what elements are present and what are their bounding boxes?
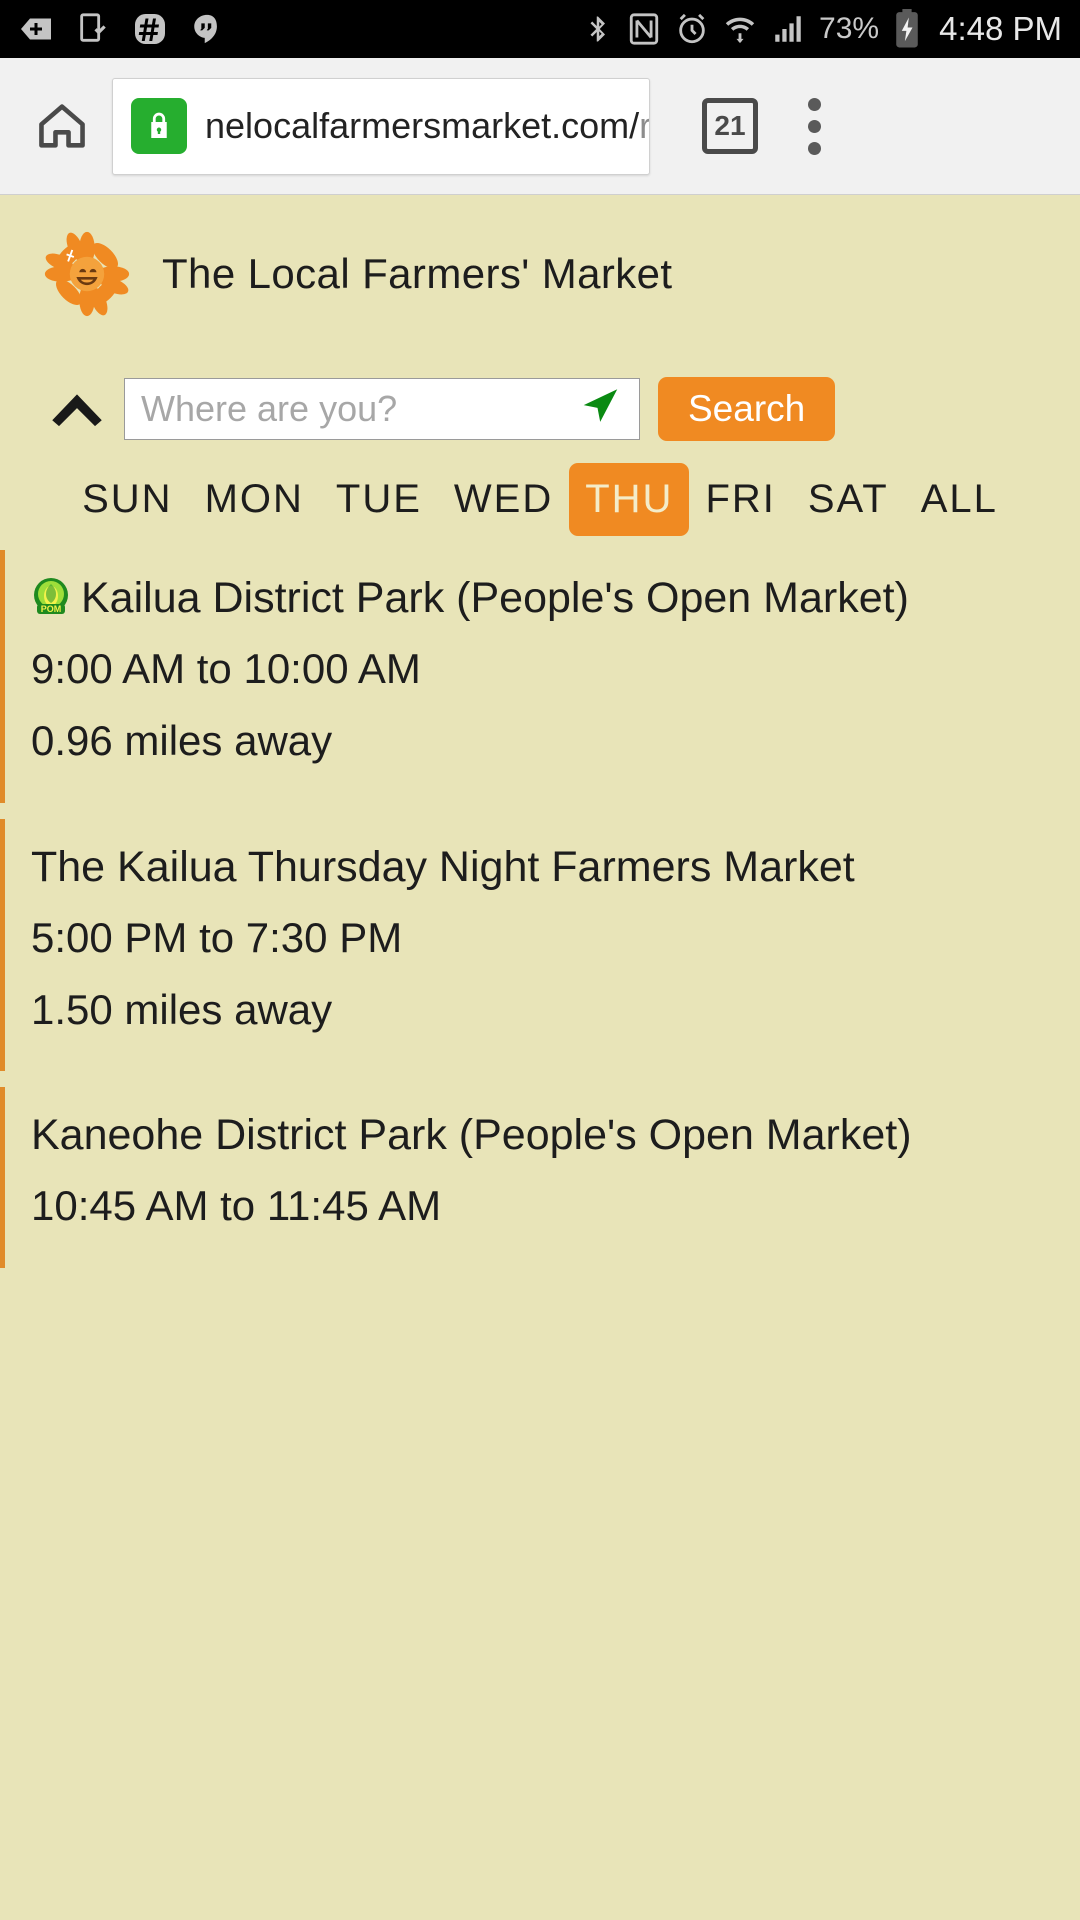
status-bar-clock: 4:48 PM (939, 10, 1062, 48)
day-filter-tabs: SUN MON TUE WED THU FRI SAT ALL (0, 463, 1080, 536)
day-tab-fri[interactable]: FRI (689, 463, 791, 536)
listing-hours: 9:00 AM to 10:00 AM (31, 637, 1050, 701)
day-tab-all[interactable]: ALL (905, 463, 1014, 536)
hangouts-icon (190, 11, 224, 47)
svg-text:POM: POM (41, 604, 62, 614)
day-tab-wed[interactable]: WED (438, 463, 569, 536)
page-body: The Local Farmers' Market Search SUN MON… (0, 195, 1080, 1920)
day-tab-sun[interactable]: SUN (66, 463, 188, 536)
search-row: Search (0, 377, 1080, 441)
day-tab-tue[interactable]: TUE (320, 463, 438, 536)
cell-signal-icon (771, 11, 805, 47)
battery-charging-icon (893, 9, 921, 49)
bluetooth-icon (583, 11, 613, 47)
alarm-clock-icon (675, 11, 709, 47)
listing-title-text: Kaneohe District Park (People's Open Mar… (31, 1111, 912, 1159)
url-text: nelocalfarmersmarket.com/r (205, 105, 650, 147)
location-search-field[interactable] (124, 378, 640, 440)
battery-percentage: 73% (819, 12, 879, 46)
plus-shield-icon (18, 11, 54, 47)
android-status-bar: 73% 4:48 PM (0, 0, 1080, 58)
day-tab-mon[interactable]: MON (189, 463, 320, 536)
tab-switcher-button[interactable]: 21 (702, 98, 758, 154)
download-to-phone-icon (76, 11, 110, 47)
site-header: The Local Farmers' Market (0, 195, 1080, 317)
list-item[interactable]: The Kailua Thursday Night Farmers Market… (0, 819, 1080, 1072)
listing-title: Kaneohe District Park (People's Open Mar… (31, 1105, 1050, 1166)
day-tab-thu[interactable]: THU (569, 463, 689, 536)
listing-distance: 1.50 miles away (31, 978, 1050, 1042)
collapse-toggle[interactable] (38, 391, 116, 427)
browser-toolbar: nelocalfarmersmarket.com/r 21 (0, 58, 1080, 195)
home-button[interactable] (22, 97, 102, 155)
listing-title-text: The Kailua Thursday Night Farmers Market (31, 843, 855, 891)
search-button[interactable]: Search (658, 377, 835, 441)
listing-hours: 10:45 AM to 11:45 AM (31, 1174, 1050, 1238)
overflow-menu-icon[interactable] (808, 98, 821, 155)
status-bar-notification-icons (18, 11, 224, 47)
wifi-icon (723, 11, 757, 47)
listing-title-text: Kailua District Park (People's Open Mark… (81, 574, 909, 622)
chevron-up-icon (50, 391, 104, 427)
list-item[interactable]: POM Kailua District Park (People's Open … (0, 550, 1080, 803)
listing-title: The Kailua Thursday Night Farmers Market (31, 837, 1050, 898)
navigation-arrow-icon[interactable] (577, 384, 623, 435)
listing-hours: 5:00 PM to 7:30 PM (31, 906, 1050, 970)
page-title: The Local Farmers' Market (162, 250, 673, 298)
day-tab-sat[interactable]: SAT (792, 463, 905, 536)
sunflower-logo-icon (44, 231, 130, 317)
lock-icon (131, 98, 187, 154)
nfc-icon (627, 11, 661, 47)
home-icon (31, 97, 93, 155)
search-input[interactable] (141, 379, 623, 439)
list-item[interactable]: Kaneohe District Park (People's Open Mar… (0, 1087, 1080, 1268)
market-listings: POM Kailua District Park (People's Open … (0, 550, 1080, 1268)
status-bar-system-icons: 73% 4:48 PM (583, 9, 1062, 49)
pom-badge-icon: POM (31, 576, 71, 616)
listing-distance: 0.96 miles away (31, 709, 1050, 773)
url-bar[interactable]: nelocalfarmersmarket.com/r (112, 78, 650, 175)
hash-bubble-icon (132, 11, 168, 47)
listing-title: POM Kailua District Park (People's Open … (31, 568, 1050, 629)
